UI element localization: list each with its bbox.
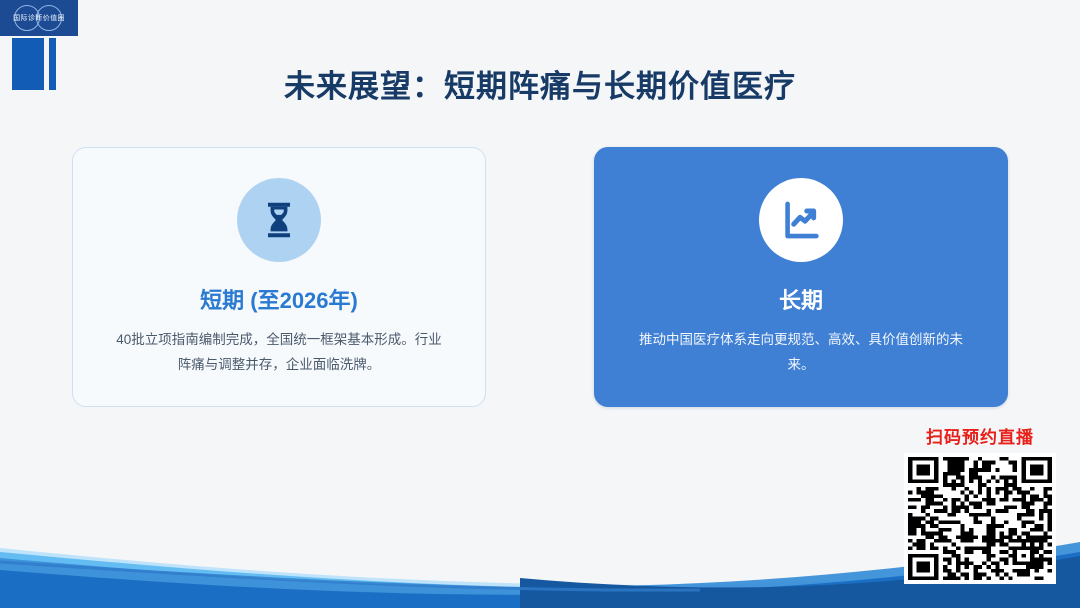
card-body-long-term: 推动中国医疗体系走向更规范、高效、具价值创新的未来。 <box>633 328 969 378</box>
slide-canvas: 国际诊断价值圈 未来展望：短期阵痛与长期价值医疗 短期 (至2026年) 40批… <box>0 0 1080 608</box>
qr-section: 扫码预约直播 <box>894 428 1066 584</box>
card-title-long-term: 长期 <box>779 288 823 314</box>
card-long-term[interactable]: 长期 推动中国医疗体系走向更规范、高效、具价值创新的未来。 <box>594 147 1008 407</box>
qr-frame <box>904 453 1056 584</box>
card-short-term[interactable]: 短期 (至2026年) 40批立项指南编制完成，全国统一框架基本形成。行业阵痛与… <box>72 147 486 407</box>
qr-code-image[interactable] <box>908 457 1052 580</box>
hourglass-icon <box>257 198 301 242</box>
brand-logo: 国际诊断价值圈 <box>0 0 78 36</box>
card-body-short-term: 40批立项指南编制完成，全国统一框架基本形成。行业阵痛与调整并存，企业面临洗牌。 <box>111 328 447 378</box>
page-title: 未来展望：短期阵痛与长期价值医疗 <box>0 68 1080 105</box>
card-row: 短期 (至2026年) 40批立项指南编制完成，全国统一框架基本形成。行业阵痛与… <box>72 147 1008 409</box>
line-chart-icon-badge <box>759 178 843 262</box>
card-title-short-term: 短期 (至2026年) <box>200 288 358 314</box>
brand-logo-text: 国际诊断价值圈 <box>13 15 65 22</box>
hourglass-icon-badge <box>237 178 321 262</box>
line-chart-icon <box>778 197 824 243</box>
qr-caption: 扫码预约直播 <box>894 428 1066 448</box>
